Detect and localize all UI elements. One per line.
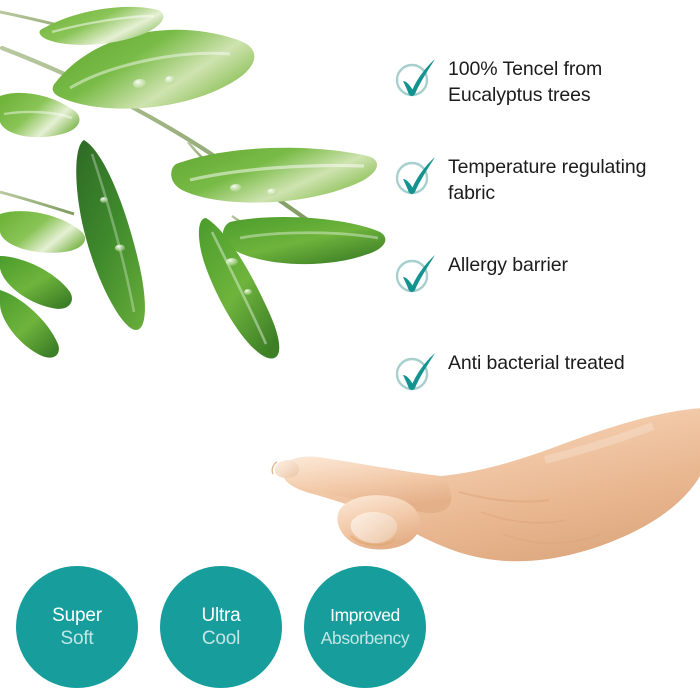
feature-item: Temperature regulating fabric — [392, 146, 692, 244]
feature-item: Anti bacterial treated — [392, 342, 692, 440]
check-circle-icon — [392, 348, 438, 394]
feature-item-label: Anti bacterial treated — [448, 350, 692, 376]
benefit-badge-line1: Improved — [330, 604, 400, 627]
feature-item-label: Temperature regulating fabric — [448, 154, 692, 206]
feature-item: Allergy barrier — [392, 244, 692, 342]
benefit-badge-ultra-cool: Ultra Cool — [160, 566, 282, 688]
product-infographic: 100% Tencel from Eucalyptus trees Temper… — [0, 0, 700, 700]
feature-item-label: 100% Tencel from Eucalyptus trees — [448, 56, 692, 108]
benefit-badge-line1: Ultra — [201, 604, 240, 627]
benefit-badge-row: Super Soft Ultra Cool Improved Absorbenc… — [16, 566, 426, 688]
benefit-badge-line2: Absorbency — [321, 627, 409, 650]
check-circle-icon — [392, 250, 438, 296]
check-circle-icon — [392, 152, 438, 198]
benefit-badge-line2: Soft — [61, 627, 94, 650]
eucalyptus-branch-photo — [0, 0, 390, 390]
benefit-badge-super-soft: Super Soft — [16, 566, 138, 688]
benefit-badge-line1: Super — [52, 604, 102, 627]
check-circle-icon — [392, 54, 438, 100]
benefit-badge-line2: Cool — [202, 627, 240, 650]
feature-item: 100% Tencel from Eucalyptus trees — [392, 48, 692, 146]
feature-item-label: Allergy barrier — [448, 252, 692, 278]
benefit-badge-improved-absorbency: Improved Absorbency — [304, 566, 426, 688]
feature-list: 100% Tencel from Eucalyptus trees Temper… — [392, 48, 692, 440]
